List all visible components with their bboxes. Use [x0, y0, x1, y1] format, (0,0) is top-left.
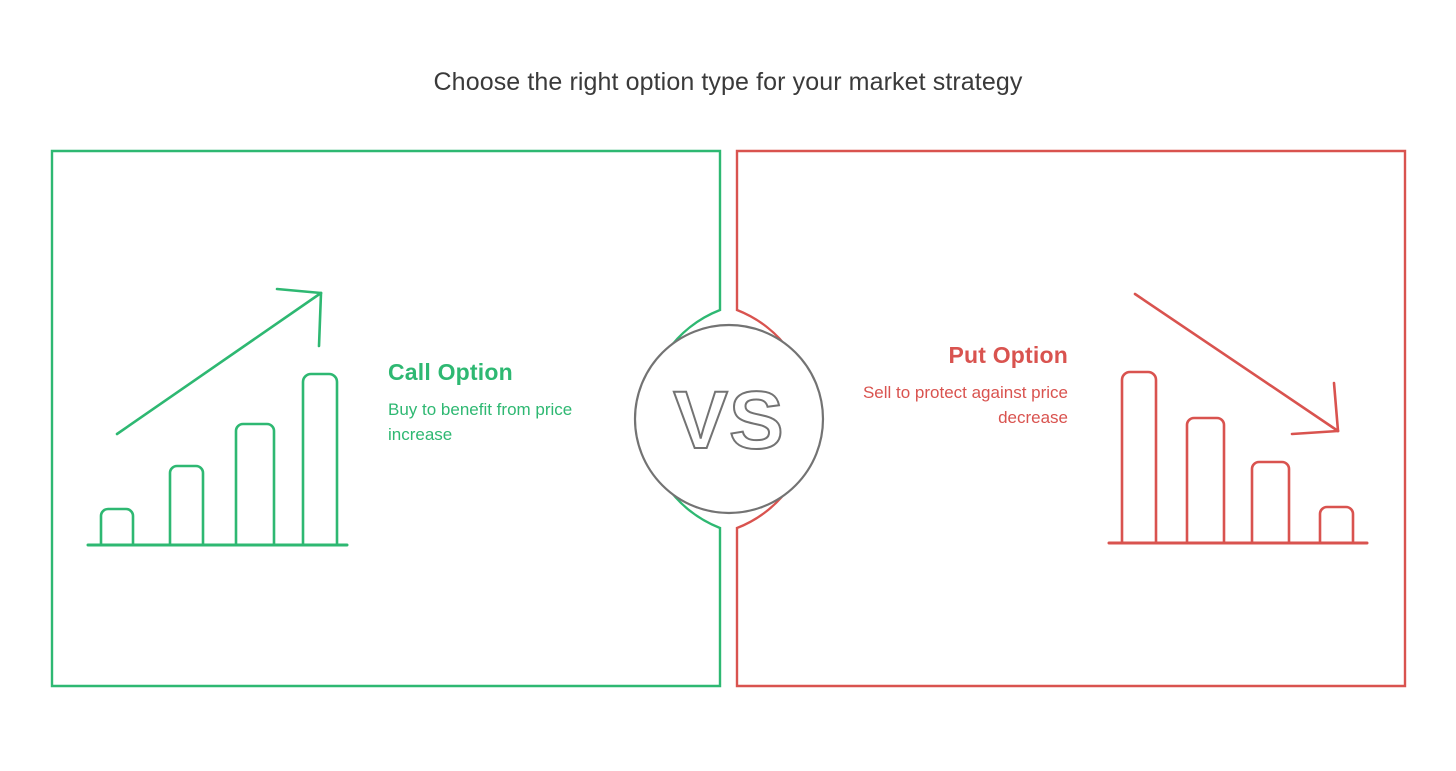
bar-4 — [1320, 507, 1353, 543]
bar-3 — [1252, 462, 1289, 543]
call-option-description: Buy to benefit from price increase — [388, 385, 603, 447]
versus-label: VS — [673, 375, 784, 466]
bar-1 — [101, 509, 133, 545]
infographic-canvas: Choose the right option type for your ma… — [0, 0, 1456, 771]
put-panel-border — [737, 151, 1405, 686]
bar-3 — [236, 424, 274, 545]
arrow-shaft — [1135, 294, 1338, 431]
call-option-text-block: Call Option Buy to benefit from price in… — [388, 360, 603, 448]
down-trend-arrow-icon — [1135, 294, 1338, 434]
versus-badge: VS — [635, 325, 823, 513]
diagram-graphics: VS — [0, 0, 1456, 771]
put-option-description: Sell to protect against price decrease — [860, 368, 1068, 430]
arrow-barb-lower — [319, 293, 321, 346]
rising-bar-chart-icon — [88, 374, 347, 545]
arrow-barb-lower — [1292, 431, 1338, 434]
call-panel-border — [52, 151, 720, 686]
bar-2 — [1187, 418, 1224, 543]
up-trend-arrow-icon — [117, 289, 321, 434]
falling-bar-chart-icon — [1109, 372, 1367, 543]
arrow-shaft — [117, 293, 321, 434]
call-option-title: Call Option — [388, 360, 603, 385]
arrow-barb-upper — [277, 289, 321, 293]
bar-4 — [303, 374, 337, 545]
put-option-title: Put Option — [860, 343, 1068, 368]
arrow-barb-upper — [1334, 383, 1338, 431]
put-option-text-block: Put Option Sell to protect against price… — [860, 343, 1068, 431]
bar-2 — [170, 466, 203, 545]
bar-1 — [1122, 372, 1156, 543]
